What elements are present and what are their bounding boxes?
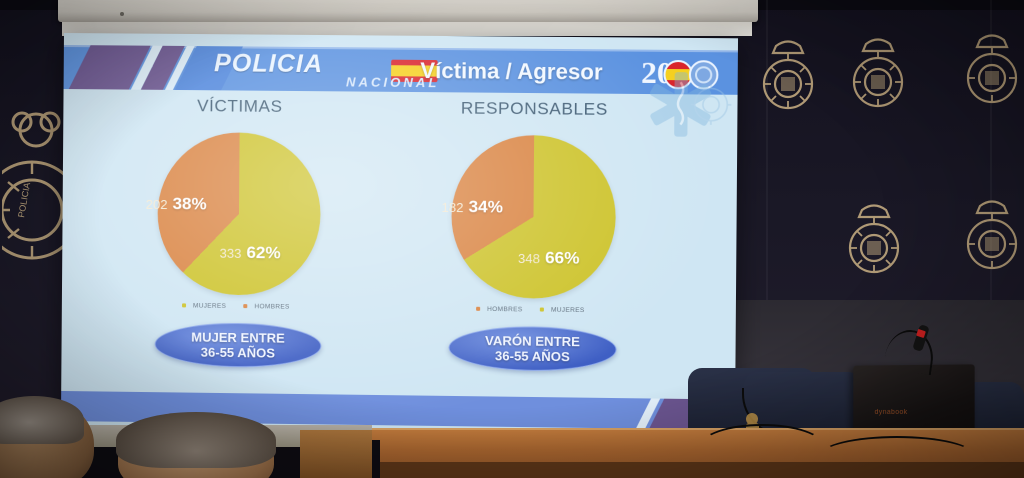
pie-label-hombres: 18234%	[441, 197, 503, 218]
legend-swatch	[476, 307, 480, 311]
pie-count-hombres: 202	[146, 197, 168, 212]
police-badge-icon	[760, 32, 816, 118]
projected-slide: POLICIA NACIONAL Víctima / Agresor 200	[61, 33, 738, 434]
callout-line2: 36-55 AÑOS	[495, 348, 570, 364]
callout-responsables: VARÓN ENTRE 36-55 AÑOS	[448, 326, 616, 372]
legend-swatch	[243, 304, 247, 308]
pie-label-mujeres: 34866%	[518, 248, 580, 269]
legend-label: MUJERES	[193, 302, 226, 309]
legend-label: MUJERES	[551, 307, 585, 314]
slide-title: Víctima / Agresor	[395, 58, 628, 86]
audience-hair	[116, 412, 276, 468]
callout-line1: MUJER ENTRE	[191, 330, 285, 346]
slide-header-band: POLICIA NACIONAL Víctima / Agresor 200	[64, 45, 738, 95]
police-badge-icon	[964, 26, 1020, 112]
legend-item: HOMBRES	[476, 306, 528, 314]
svg-text:POLICIA: POLICIA	[16, 182, 32, 219]
pie-label-hombres: 20238%	[146, 194, 207, 215]
panel-title-victims: VÍCTIMAS	[89, 95, 391, 118]
slide-body: VÍCTIMAS 20238% 33362% MUJERES HOMBRES M…	[61, 89, 737, 398]
police-badge-icon	[846, 196, 902, 282]
conference-room-photo: POLICIA	[0, 0, 1024, 478]
cable	[820, 436, 974, 474]
callout-line1: VARÓN ENTRE	[485, 333, 580, 349]
responsibles-panel: RESPONSABLES 18234% 34866% HOMBRES MUJER…	[381, 92, 687, 397]
legend-item: MUJERES	[182, 302, 231, 310]
pie-percent-mujeres: 66%	[545, 248, 580, 268]
legend-item: MUJERES	[540, 306, 590, 314]
police-badge-icon: POLICIA	[2, 78, 66, 268]
housing-screw	[120, 12, 124, 16]
pie-percent-hombres: 38%	[172, 194, 206, 213]
legend-swatch	[182, 304, 186, 308]
legend-label: HOMBRES	[487, 306, 522, 313]
cable	[700, 424, 824, 468]
pie-percent-hombres: 34%	[468, 197, 503, 216]
legend-swatch	[540, 308, 544, 312]
pie-chart-victims: 20238% 33362%	[157, 132, 321, 296]
pie-legend-responsables: HOMBRES MUJERES	[381, 305, 685, 316]
police-badge-icon	[850, 30, 906, 116]
pie-count-mujeres: 333	[220, 246, 242, 261]
projector-screen-housing	[58, 0, 758, 22]
pie-count-hombres: 182	[441, 200, 463, 215]
pie-legend-victims: MUJERES HOMBRES	[88, 301, 389, 312]
police-badge-icon	[964, 192, 1020, 278]
front-table-wood	[300, 430, 372, 478]
pie-label-mujeres: 33362%	[220, 243, 281, 264]
callout-line2: 36-55 AÑOS	[201, 345, 275, 361]
laptop-brand-label: dynabook	[875, 409, 908, 416]
victims-panel: VÍCTIMAS 20238% 33362% MUJERES HOMBRES M…	[87, 89, 391, 393]
pie-count-mujeres: 348	[518, 251, 540, 266]
callout-victims: MUJER ENTRE 36-55 AÑOS	[154, 322, 321, 368]
pie-chart-responsables: 18234% 34866%	[451, 135, 616, 300]
pie-percent-mujeres: 62%	[246, 243, 280, 262]
audience-hair	[0, 396, 84, 444]
legend-label: HOMBRES	[254, 303, 289, 310]
panel-title-responsables: RESPONSABLES	[383, 98, 687, 121]
legend-item: HOMBRES	[243, 303, 294, 311]
